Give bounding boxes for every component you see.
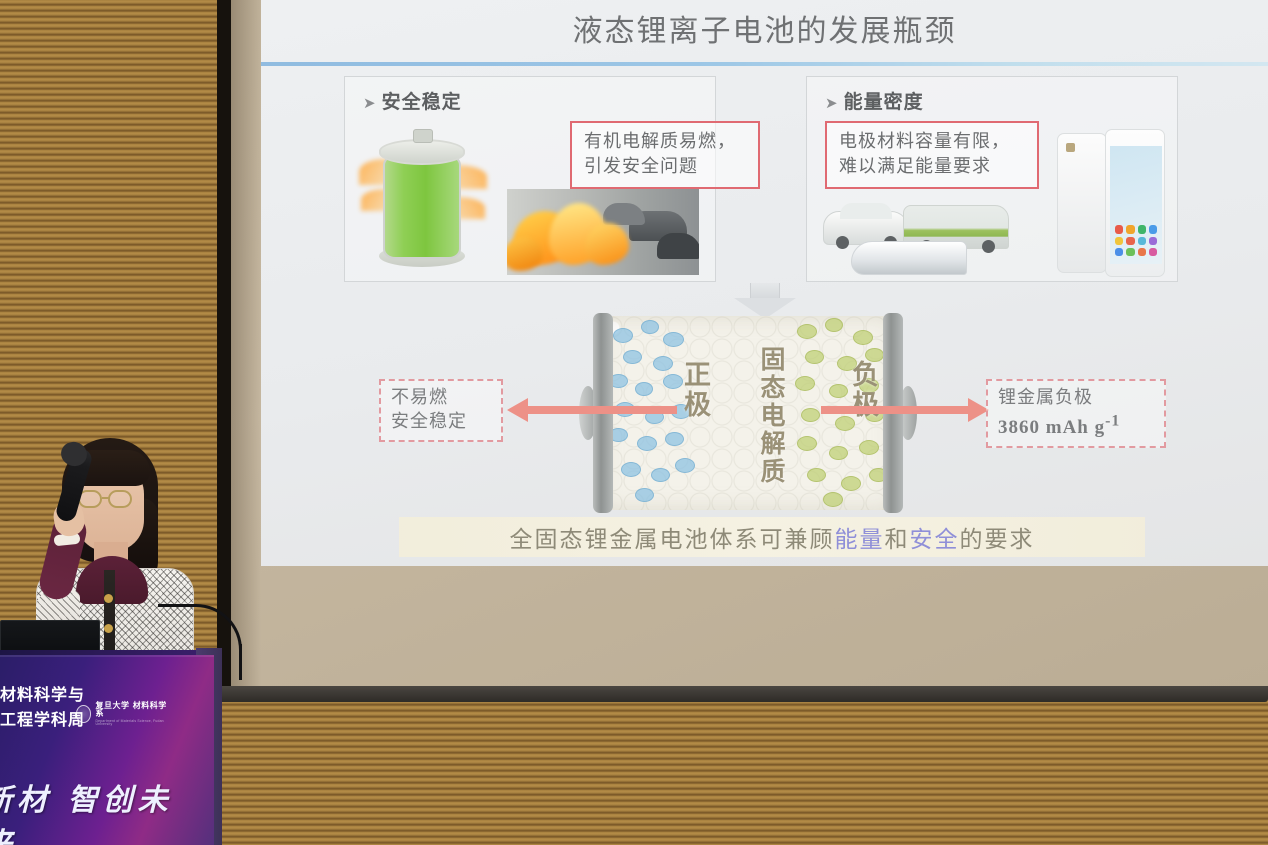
callout-lithium-capacity: 3860 mAh g-1 xyxy=(998,410,1154,440)
capacity-value: 3860 mAh g xyxy=(998,417,1105,438)
title-divider-rule xyxy=(261,62,1268,66)
projected-slide: 液态锂离子电池的发展瓶颈 ➤安全稳定 xyxy=(261,0,1268,566)
car-fire-image xyxy=(507,189,699,275)
callout-non-flammable: 不易燃 安全稳定 xyxy=(379,379,503,442)
fudan-logo-en: Department of Materials Science, Fudan U… xyxy=(95,720,168,727)
callout-flammable-line1: 有机电解质易燃， xyxy=(584,130,746,155)
eyeglasses-bridge xyxy=(102,497,110,499)
bullet-arrow-icon: ➤ xyxy=(363,94,377,112)
phone-front-shell xyxy=(1105,129,1165,277)
conclusion-part2: 和 xyxy=(885,520,910,554)
electric-car-image xyxy=(823,211,909,245)
vehicles-image-group xyxy=(823,205,1053,277)
callout-flammable-line2: 引发安全问题 xyxy=(584,155,746,180)
fudan-university-logo: 复旦大学 材料科学系 Department of Materials Scien… xyxy=(76,701,168,727)
panel-energy-heading: ➤能量密度 xyxy=(825,87,924,114)
callout-nonflam-line2: 安全稳定 xyxy=(391,410,491,434)
callout-capacity-line2: 难以满足能量要求 xyxy=(839,155,1025,180)
diagram-label-electrolyte: 固态电解质 xyxy=(753,346,789,486)
jacket-button xyxy=(104,594,113,603)
callout-limited-capacity: 电极材料容量有限， 难以满足能量要求 xyxy=(825,121,1039,189)
callout-lithium-title: 锂金属负极 xyxy=(998,386,1154,410)
battery-flame-image xyxy=(365,125,485,271)
phone-app-grid xyxy=(1115,225,1157,256)
panel-energy-density: ➤能量密度 电极材料容量有限， 难以满足能量要求 xyxy=(806,76,1178,282)
eyeglasses-right-lens xyxy=(108,490,132,508)
all-solid-state-battery-diagram: 正极 固态电解质 负极 xyxy=(579,316,917,510)
presentation-photo: 液态锂离子电池的发展瓶颈 ➤安全稳定 xyxy=(0,0,1268,845)
conclusion-part1: 全固态锂金属电池体系可兼顾 xyxy=(510,520,835,554)
screen-bottom-frame xyxy=(219,686,1268,702)
callout-capacity-line1: 电极材料容量有限， xyxy=(839,130,1025,155)
panel-energy-heading-text: 能量密度 xyxy=(844,91,924,113)
fudan-logo-text: 复旦大学 材料科学系 Department of Materials Scien… xyxy=(95,702,168,727)
fudan-seal-icon xyxy=(76,705,91,723)
panel-safety-heading-text: 安全稳定 xyxy=(382,91,462,113)
callout-flammable-electrolyte: 有机电解质易燃， 引发安全问题 xyxy=(570,121,760,189)
conclusion-highlight-energy: 能量 xyxy=(835,520,885,554)
panel-safety-heading: ➤安全稳定 xyxy=(363,87,462,114)
conclusion-banner: 全固态锂金属电池体系可兼顾能量和安全的要求 xyxy=(399,517,1145,557)
podium-calligraphy-slogan: 新材 智创未来 xyxy=(0,775,192,845)
fudan-logo-cn: 复旦大学 材料科学系 xyxy=(95,702,168,718)
podium-banner: 材料科学与 工程学科周 复旦大学 材料科学系 Department of Mat… xyxy=(0,655,214,845)
left-arrow-icon xyxy=(527,406,677,414)
slide-title: 液态锂离子电池的发展瓶颈 xyxy=(261,6,1268,50)
conclusion-part3: 的要求 xyxy=(960,520,1035,554)
phone-camera-icon xyxy=(1066,143,1075,152)
capacity-exponent: -1 xyxy=(1105,412,1120,429)
down-arrow-icon xyxy=(734,283,796,319)
jacket-button xyxy=(104,624,113,633)
smartphone-image xyxy=(1057,129,1165,277)
callout-nonflam-line1: 不易燃 xyxy=(391,386,491,410)
conclusion-highlight-safety: 安全 xyxy=(910,520,960,554)
high-speed-train-image xyxy=(851,241,967,275)
bullet-arrow-icon: ➤ xyxy=(825,94,839,112)
phone-rear-shell xyxy=(1057,133,1107,273)
callout-lithium-metal-anode: 锂金属负极 3860 mAh g-1 xyxy=(986,379,1166,448)
diagram-label-cathode: 正极 xyxy=(675,360,714,420)
phone-screen xyxy=(1110,146,1162,264)
screen-shadow xyxy=(231,0,261,690)
right-arrow-icon xyxy=(821,406,969,414)
panel-safety: ➤安全稳定 有机电解质易 xyxy=(344,76,716,282)
